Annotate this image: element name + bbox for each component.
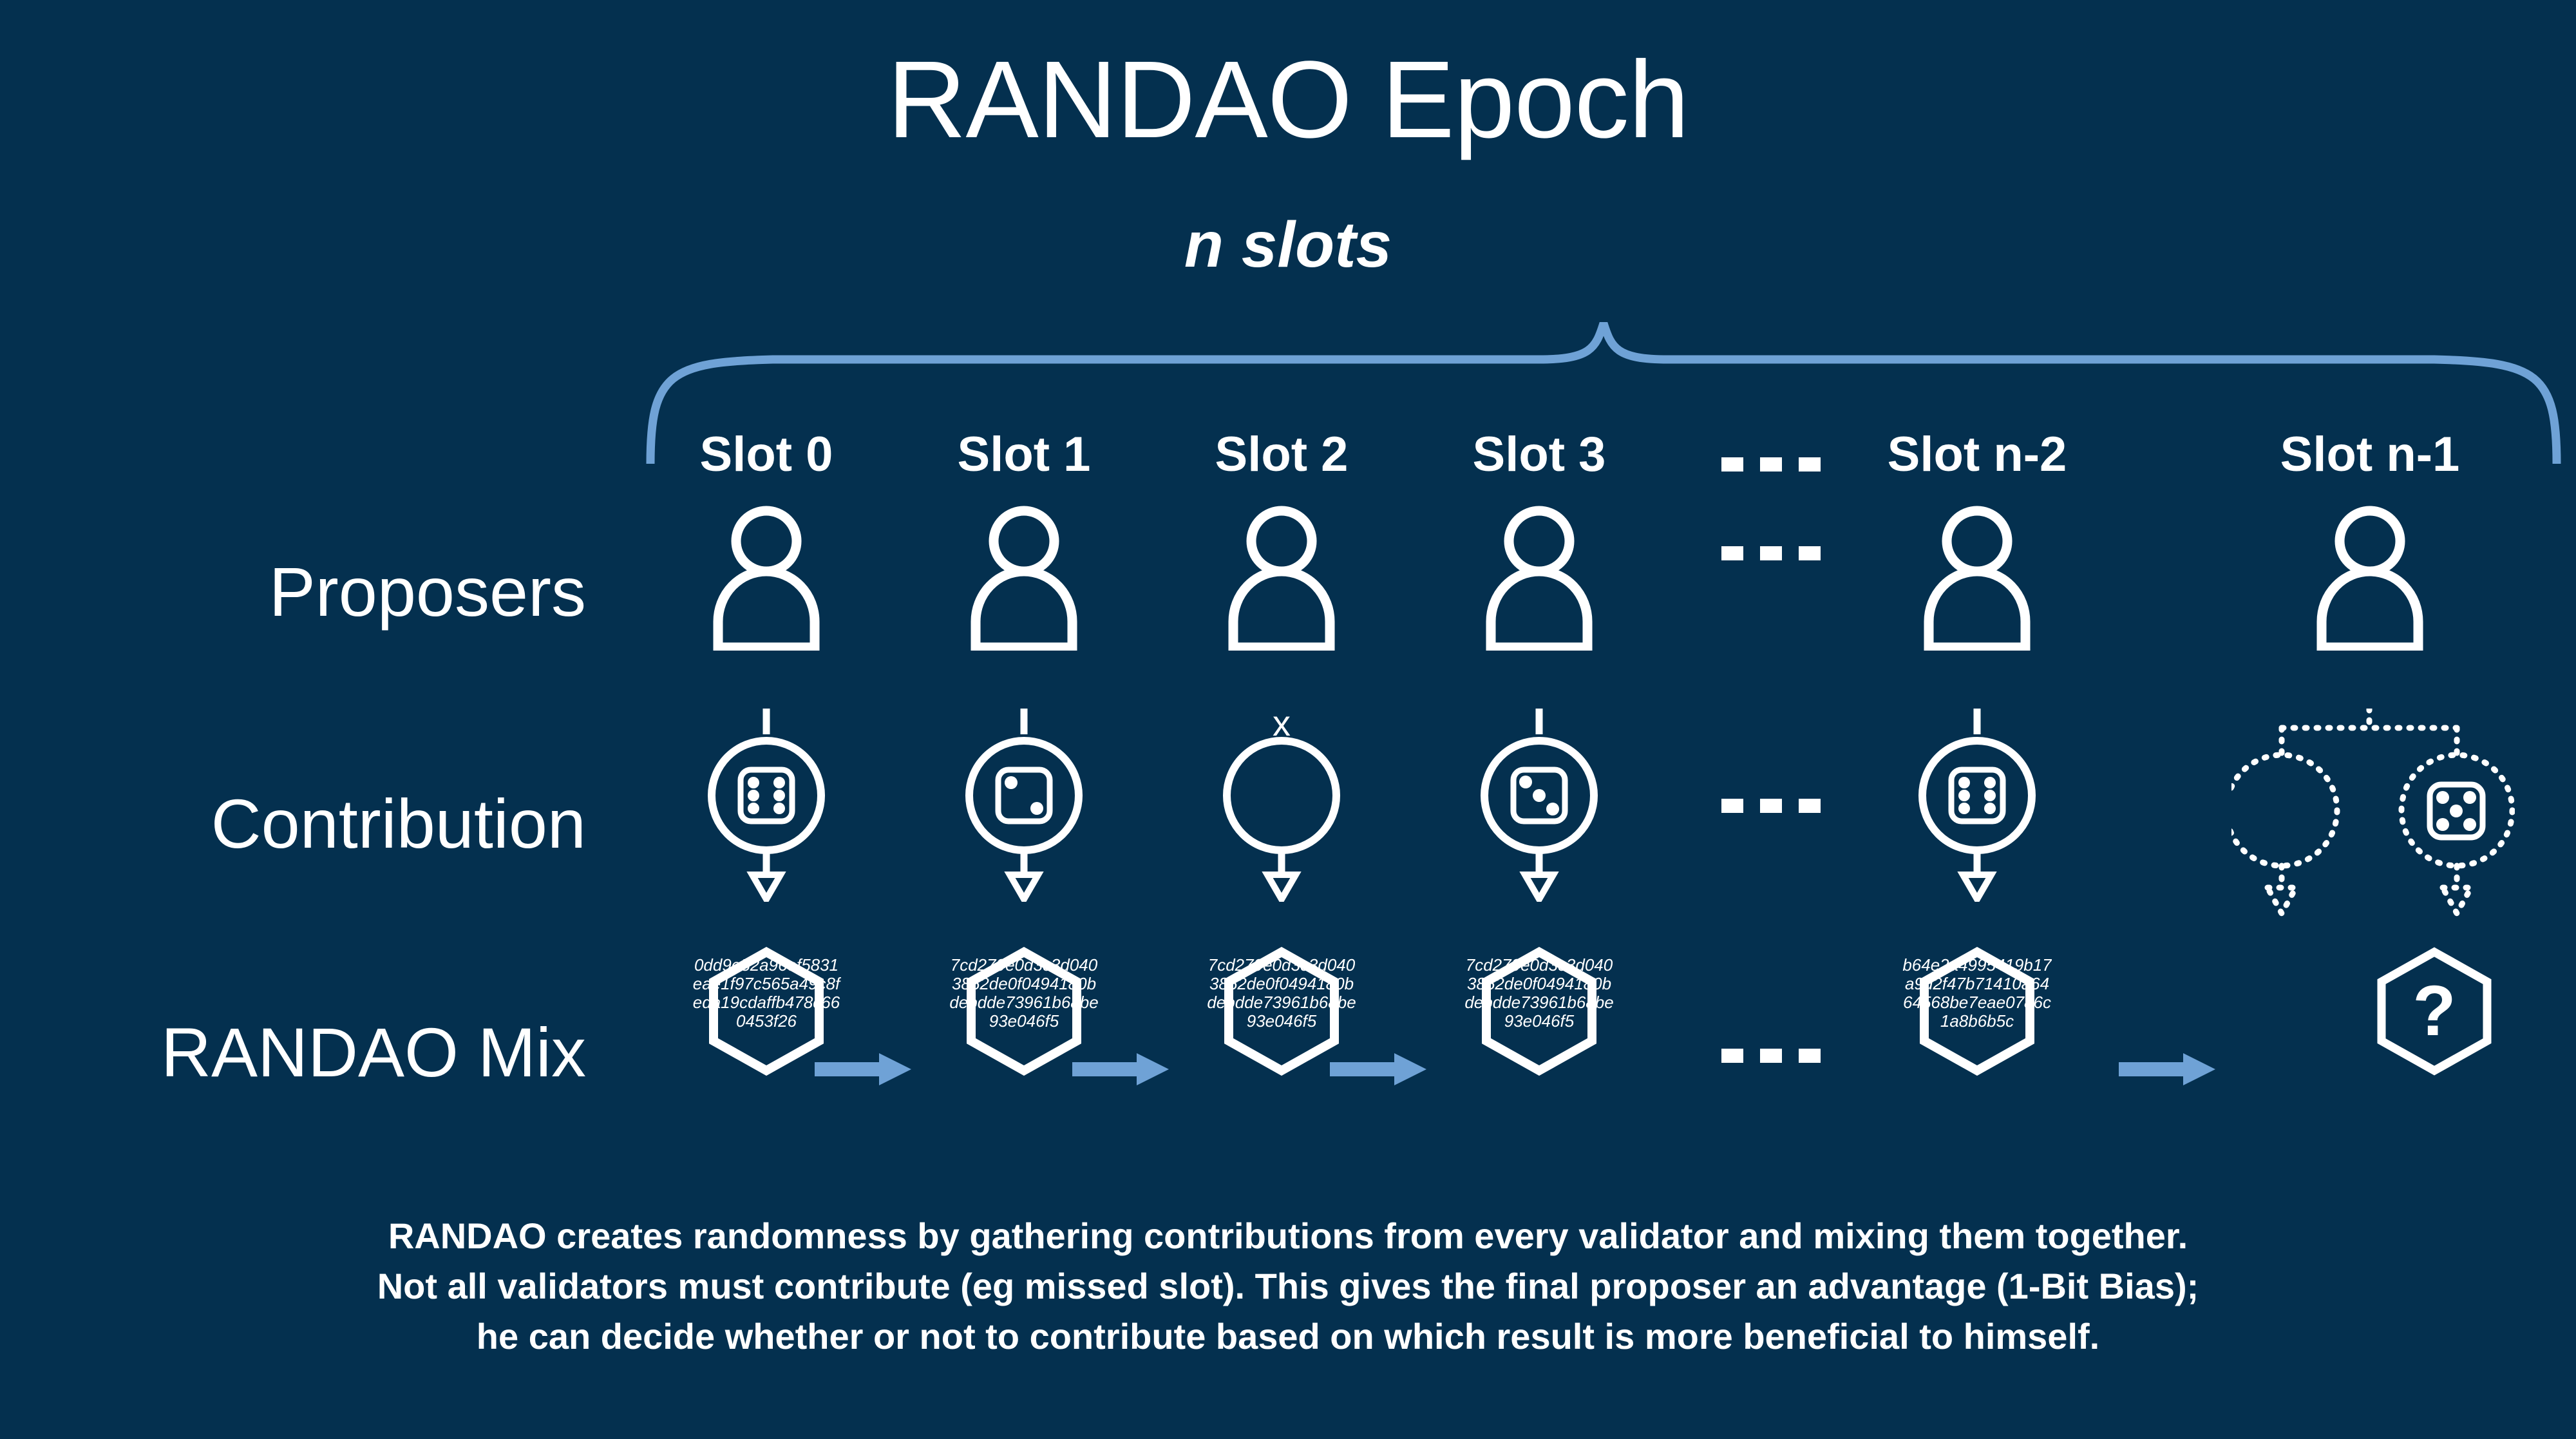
randao-mix-hex-unknown: ? bbox=[2370, 947, 2499, 1076]
ellipsis-dot bbox=[1721, 546, 1743, 560]
hexagon-icon bbox=[1217, 947, 1346, 1076]
dice-5-icon bbox=[2430, 785, 2483, 837]
ellipsis-dot bbox=[1760, 799, 1782, 813]
hexagon-icon bbox=[960, 947, 1088, 1076]
person-icon bbox=[1478, 502, 1600, 651]
page-title: RANDAO Epoch bbox=[0, 45, 2576, 155]
randao-mix-hex-1: 7cd279e0d3c3d0403852de0f0494180bdebdde73… bbox=[960, 947, 1088, 1076]
contribution-dice-6 bbox=[1906, 709, 2048, 902]
ellipsis-slot-label-row bbox=[1721, 457, 1821, 472]
ellipsis-proposers-row bbox=[1721, 546, 1821, 560]
ellipsis-randao-mix-row bbox=[1721, 1049, 1821, 1063]
row-label-contribution: Contribution bbox=[211, 789, 586, 859]
ellipsis-dot bbox=[1760, 1049, 1782, 1063]
hexagon-icon bbox=[702, 947, 831, 1076]
empty-contribution-circle bbox=[2231, 755, 2337, 866]
contribution-dice-6 bbox=[696, 709, 837, 902]
person-icon bbox=[2309, 502, 2431, 651]
caption-line-3: he can decide whether or not to contribu… bbox=[58, 1311, 2518, 1362]
hexagon-icon bbox=[1913, 947, 2041, 1076]
randao-mix-hex-n-2: b64e2a4995419b17a9d2f47b71410a6464568be7… bbox=[1913, 947, 2041, 1076]
person-icon bbox=[1220, 502, 1343, 651]
randao-mix-hex-0: 0dd9e52a96ef5831eae1f97c565a49c8feda19cd… bbox=[702, 947, 831, 1076]
ellipsis-dot bbox=[1760, 546, 1782, 560]
final-slot-branch-icon bbox=[2231, 709, 2515, 921]
caption-line-1: RANDAO creates randomness by gathering c… bbox=[58, 1211, 2518, 1261]
person-icon bbox=[705, 502, 828, 651]
slot-label-1: Slot 1 bbox=[927, 430, 1121, 479]
slot-column-n-1[interactable]: Slot n-1 bbox=[2273, 412, 2544, 1172]
ellipsis-dot bbox=[1721, 457, 1743, 472]
contribution-empty-missed: x bbox=[1211, 709, 1352, 902]
ellipsis-dot bbox=[1799, 546, 1821, 560]
slot-column-3[interactable]: Slot 3 7cd279e0d3c3d0403852de0f0494180bd… bbox=[1443, 412, 1636, 1172]
row-label-randao-mix: RANDAO Mix bbox=[161, 1018, 586, 1087]
diagram-canvas: RANDAO Epoch n slots Proposers Contribut… bbox=[0, 0, 2576, 1439]
unknown-mix-question-mark: ? bbox=[2370, 947, 2499, 1076]
caption-line-2: Not all validators must contribute (eg m… bbox=[58, 1261, 2518, 1311]
slot-label-2: Slot 2 bbox=[1185, 430, 1378, 479]
caption: RANDAO creates randomness by gathering c… bbox=[0, 1211, 2576, 1362]
slot-label-0: Slot 0 bbox=[670, 430, 863, 479]
ellipsis-contribution-row bbox=[1721, 799, 1821, 813]
person-icon bbox=[963, 502, 1085, 651]
slot-label-n-2: Slot n-2 bbox=[1880, 430, 2074, 479]
ellipsis-dot bbox=[1721, 1049, 1743, 1063]
ellipsis-dot bbox=[1799, 457, 1821, 472]
contribution-dice-2 bbox=[953, 709, 1095, 902]
slot-column-n-2[interactable]: Slot n-2 b64e2a4995419b17a9d2f47b71410a6… bbox=[1880, 412, 2074, 1172]
chain-arrow-n-2-to-n-1 bbox=[2119, 1050, 2222, 1089]
slot-label-3: Slot 3 bbox=[1443, 430, 1636, 479]
chain-arrow-1-to-2 bbox=[1072, 1050, 1175, 1089]
row-label-proposers: Proposers bbox=[269, 557, 586, 627]
person-icon bbox=[1916, 502, 2038, 651]
ellipsis-dot bbox=[1799, 799, 1821, 813]
ellipsis-dot bbox=[1760, 457, 1782, 472]
slot-label-n-1: Slot n-1 bbox=[2273, 430, 2467, 479]
randao-mix-hex-2: 7cd279e0d3c3d0403852de0f0494180bdebdde73… bbox=[1217, 947, 1346, 1076]
page-subtitle: n slots bbox=[0, 213, 2576, 277]
ellipsis-dot bbox=[1799, 1049, 1821, 1063]
hexagon-icon bbox=[1475, 947, 1604, 1076]
chain-arrow-0-to-1 bbox=[815, 1050, 918, 1089]
randao-mix-hex-3: 7cd279e0d3c3d0403852de0f0494180bdebdde73… bbox=[1475, 947, 1604, 1076]
contribution-dice-3 bbox=[1468, 709, 1610, 902]
chain-arrow-2-to-3 bbox=[1330, 1050, 1433, 1089]
ellipsis-dot bbox=[1721, 799, 1743, 813]
